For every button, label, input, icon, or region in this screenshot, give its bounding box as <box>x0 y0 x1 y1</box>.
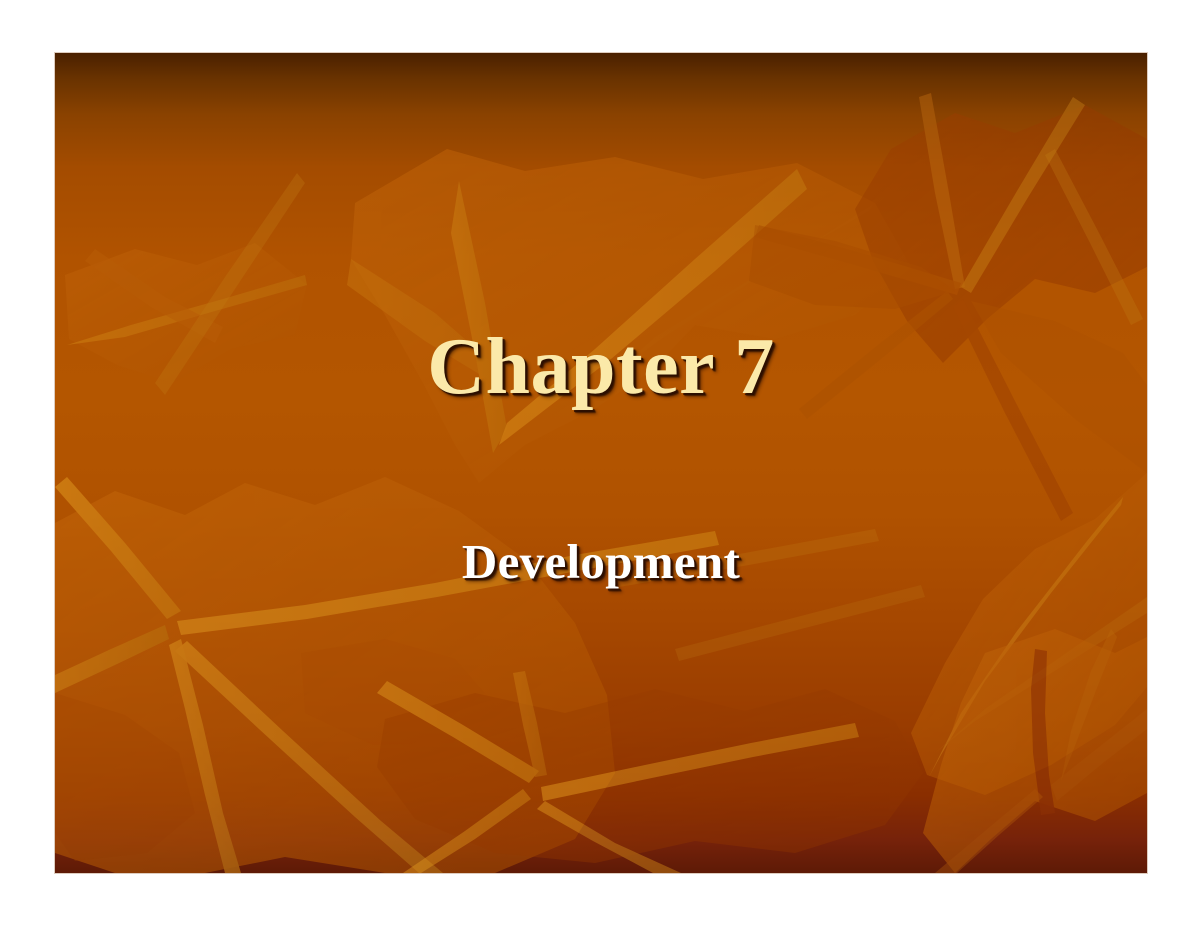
presentation-slide: Chapter 7 Development <box>55 53 1147 873</box>
slide-subtitle: Development <box>55 535 1147 589</box>
slide-text-layer: Chapter 7 Development <box>55 53 1147 873</box>
page-title: Chapter 7 <box>55 325 1147 409</box>
page-canvas: Chapter 7 Development <box>0 0 1200 927</box>
